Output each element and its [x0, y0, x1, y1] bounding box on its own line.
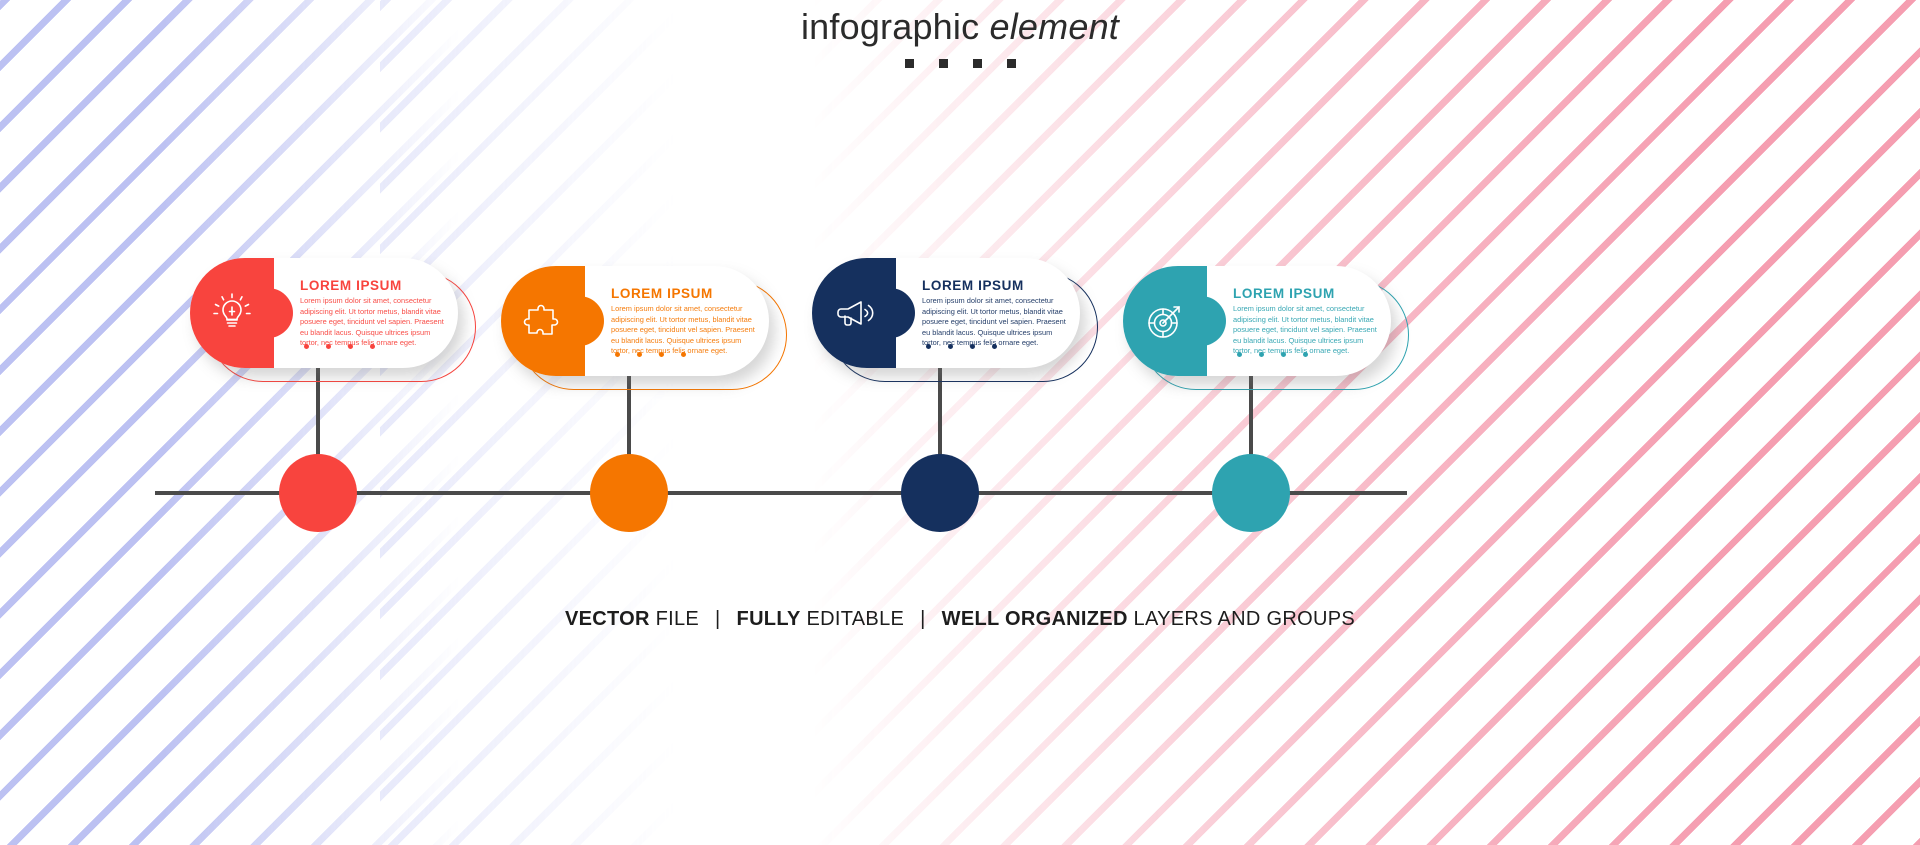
card-dot [326, 344, 331, 349]
title-dot [973, 59, 982, 68]
puzzle-piece-icon [519, 297, 567, 345]
target-dartboard-icon [1141, 297, 1189, 345]
infographic-canvas: infographic element LOR [0, 0, 1920, 845]
footer-separator-1: | [699, 608, 737, 631]
timeline-node-3[interactable] [901, 454, 979, 532]
card-text-block: LOREM IPSUM Lorem ipsum dolor sit amet, … [922, 278, 1070, 349]
card-dot [970, 344, 975, 349]
card-heading: LOREM IPSUM [611, 286, 759, 301]
card-heading: LOREM IPSUM [1233, 286, 1381, 301]
timeline-node-1[interactable] [279, 454, 357, 532]
card-dot [615, 352, 620, 357]
card-dot [1281, 352, 1286, 357]
card-heading: LOREM IPSUM [300, 278, 448, 293]
infographic-card-2[interactable]: LOREM IPSUM Lorem ipsum dolor sit amet, … [501, 266, 769, 376]
card-dot [370, 344, 375, 349]
card-dot-row [1237, 352, 1308, 357]
card-dot [948, 344, 953, 349]
background-stripes-left [0, 0, 480, 845]
card-body-text: Lorem ipsum dolor sit amet, consectetur … [611, 304, 759, 357]
footer-vector-bold: VECTOR [565, 608, 650, 630]
card-body-text: Lorem ipsum dolor sit amet, consectetur … [1233, 304, 1381, 357]
footer-separator-2: | [904, 608, 942, 631]
page-title: infographic element [0, 6, 1920, 48]
header: infographic element [0, 6, 1920, 68]
card-dot [1259, 352, 1264, 357]
card-dot [348, 344, 353, 349]
footer-wellorganized-bold: WELL ORGANIZED [942, 608, 1128, 630]
title-italic-part: element [979, 6, 1119, 47]
footer-layers-regular: LAYERS AND GROUPS [1128, 608, 1355, 630]
card-dot [992, 344, 997, 349]
lightbulb-icon [208, 289, 256, 337]
card-text-block: LOREM IPSUM Lorem ipsum dolor sit amet, … [611, 286, 759, 357]
card-dot-row [926, 344, 997, 349]
footer-editable-regular: EDITABLE [801, 608, 904, 630]
card-dot-row [615, 352, 686, 357]
card-dot [1303, 352, 1308, 357]
infographic-card-1[interactable]: LOREM IPSUM Lorem ipsum dolor sit amet, … [190, 258, 458, 368]
background-stripes-mid-left [380, 0, 800, 845]
title-dot [1007, 59, 1016, 68]
card-dot [637, 352, 642, 357]
title-dot-row [0, 59, 1920, 68]
timeline-node-4[interactable] [1212, 454, 1290, 532]
card-text-block: LOREM IPSUM Lorem ipsum dolor sit amet, … [1233, 286, 1381, 357]
footer-caption: VECTOR FILE|FULLY EDITABLE|WELL ORGANIZE… [0, 608, 1920, 631]
timeline-node-2[interactable] [590, 454, 668, 532]
infographic-card-4[interactable]: LOREM IPSUM Lorem ipsum dolor sit amet, … [1123, 266, 1391, 376]
card-body-text: Lorem ipsum dolor sit amet, consectetur … [922, 296, 1070, 349]
card-heading: LOREM IPSUM [922, 278, 1070, 293]
title-dot [939, 59, 948, 68]
card-dot [681, 352, 686, 357]
title-dot [905, 59, 914, 68]
background-stripes-right [810, 0, 1920, 845]
footer-file-regular: FILE [650, 608, 699, 630]
card-dot [304, 344, 309, 349]
footer-fully-bold: FULLY [737, 608, 801, 630]
title-regular-part: infographic [801, 6, 979, 47]
card-text-block: LOREM IPSUM Lorem ipsum dolor sit amet, … [300, 278, 448, 349]
infographic-card-3[interactable]: LOREM IPSUM Lorem ipsum dolor sit amet, … [812, 258, 1080, 368]
card-dot-row [304, 344, 375, 349]
card-body-text: Lorem ipsum dolor sit amet, consectetur … [300, 296, 448, 349]
card-dot [926, 344, 931, 349]
card-dot [659, 352, 664, 357]
megaphone-icon [830, 289, 878, 337]
card-dot [1237, 352, 1242, 357]
